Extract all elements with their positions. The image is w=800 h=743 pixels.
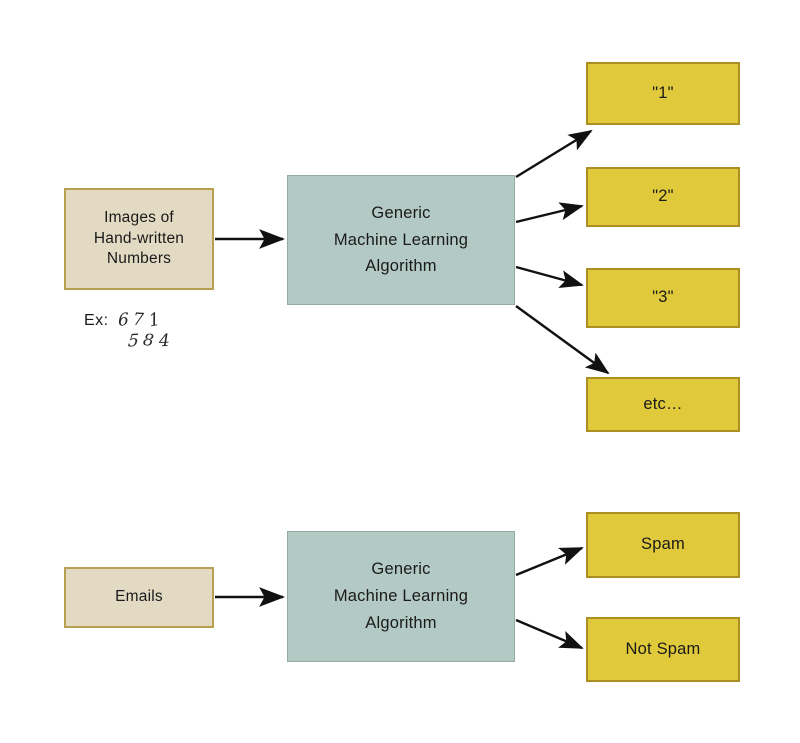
example-digit: 4: [159, 331, 176, 352]
output-label: "3": [652, 287, 674, 309]
output-label: Not Spam: [626, 639, 701, 661]
output-label: "2": [652, 186, 674, 208]
example-label: Ex:: [84, 310, 109, 330]
example-digit-row-2: 5 8 4: [128, 331, 175, 351]
process-line-1: Generic: [371, 556, 430, 583]
output-label: "1": [652, 83, 674, 105]
example-handwritten-digits: Ex: 6 7 1 5 8 4: [84, 310, 175, 351]
output-box-spam: Spam: [586, 512, 740, 578]
output-box-digit-1: "1": [586, 62, 740, 125]
process-line-3: Algorithm: [365, 253, 437, 280]
arrow-digits-process-to-output-1: [516, 131, 591, 177]
example-digit: 1: [148, 308, 167, 331]
input-line-3: Numbers: [107, 249, 171, 269]
example-digit-grid: 6 7 1 5 8 4: [118, 310, 175, 351]
example-digit: 6: [117, 309, 133, 331]
process-box-generic-ml-algorithm-emails: Generic Machine Learning Algorithm: [287, 531, 515, 662]
process-line-1: Generic: [371, 200, 430, 227]
input-line-1: Images of: [104, 208, 174, 228]
process-line-3: Algorithm: [365, 610, 437, 637]
output-label: etc…: [643, 394, 682, 416]
input-box-emails: Emails: [64, 567, 214, 628]
diagram-canvas: Images of Hand-written Numbers Ex: 6 7 1…: [0, 0, 800, 743]
output-box-digit-3: "3": [586, 268, 740, 328]
output-label: Spam: [641, 534, 685, 556]
output-box-digit-2: "2": [586, 167, 740, 227]
arrow-digits-process-to-output-2: [516, 206, 582, 222]
example-digit: 8: [143, 331, 161, 352]
arrow-digits-process-to-output-3: [516, 267, 582, 285]
input-box-images-of-handwritten-numbers: Images of Hand-written Numbers: [64, 188, 214, 290]
process-box-generic-ml-algorithm-digits: Generic Machine Learning Algorithm: [287, 175, 515, 305]
process-line-2: Machine Learning: [334, 227, 468, 254]
input-line-2: Hand-written: [94, 229, 184, 249]
arrow-email-process-to-output-not-spam: [516, 620, 582, 648]
process-line-2: Machine Learning: [334, 583, 468, 610]
arrow-email-process-to-output-spam: [516, 548, 582, 575]
output-box-digit-etc: etc…: [586, 377, 740, 432]
output-box-not-spam: Not Spam: [586, 617, 740, 682]
input-line-1: Emails: [115, 587, 163, 607]
example-digit-row-1: 6 7 1: [118, 310, 175, 330]
